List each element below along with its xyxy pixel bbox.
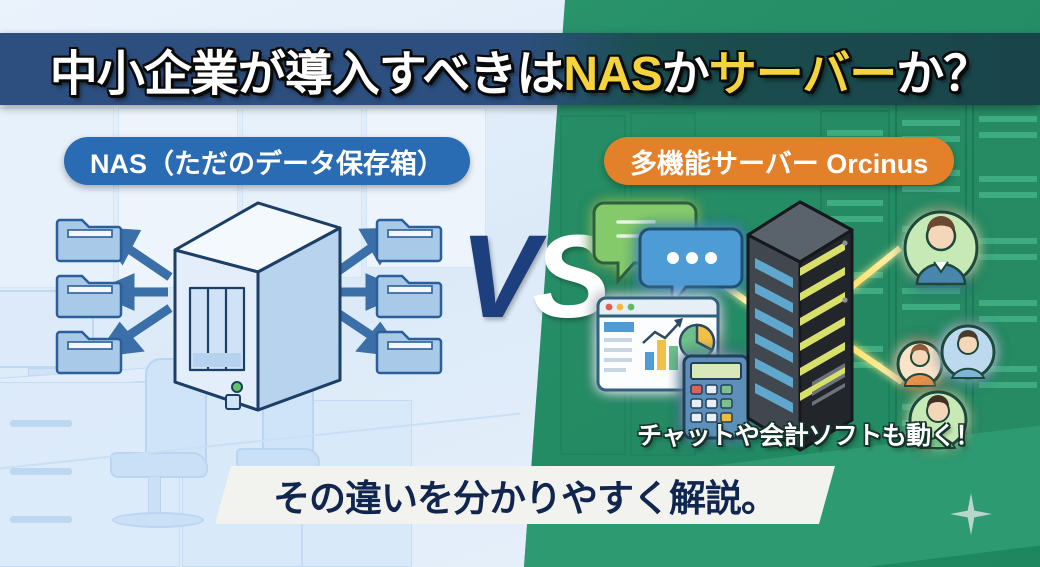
bottom-caption: その違いを分かりやすく解説。 xyxy=(273,468,777,522)
office-chair-base xyxy=(112,512,204,528)
title-highlight-nas: NAS xyxy=(563,48,661,101)
monitor-icon xyxy=(0,290,94,368)
title-middle: か xyxy=(662,48,709,101)
vs-letter-s: S xyxy=(533,211,606,343)
title-highlight-server: サーバー xyxy=(709,48,897,101)
title-suffix: か？ xyxy=(896,48,990,101)
bottom-banner: その違いを分かりやすく解説。 xyxy=(215,466,835,524)
infographic-canvas: 中小企業が導入すべきはNASかサーバーか？ NAS（ただのデータ保存箱） 多機能… xyxy=(0,0,1040,567)
window-pane xyxy=(0,108,114,288)
office-chair-seat xyxy=(110,452,208,478)
server-caption: チャットや会計ソフトも動く！ xyxy=(637,416,980,452)
vs-letter-v: V xyxy=(460,211,533,343)
window-pane xyxy=(118,108,238,288)
badge-nas: NAS（ただのデータ保存箱） xyxy=(64,137,470,185)
vs-label: VS xyxy=(460,218,605,336)
drawer-handle xyxy=(10,468,72,475)
drawer-handle xyxy=(10,420,72,427)
page-title: 中小企業が導入すべきはNASかサーバーか？ xyxy=(50,34,991,104)
window-pane xyxy=(242,108,362,278)
background-rack xyxy=(972,96,1040,468)
title-bar: 中小企業が導入すべきはNASかサーバーか？ xyxy=(0,33,1040,105)
title-prefix: 中小企業が導入すべきは xyxy=(50,48,564,101)
badge-nas-label: NAS（ただのデータ保存箱） xyxy=(90,142,444,181)
drawer-handle xyxy=(10,516,72,523)
badge-server: 多機能サーバー Orcinus xyxy=(604,137,954,185)
badge-server-label: 多機能サーバー Orcinus xyxy=(630,142,928,181)
